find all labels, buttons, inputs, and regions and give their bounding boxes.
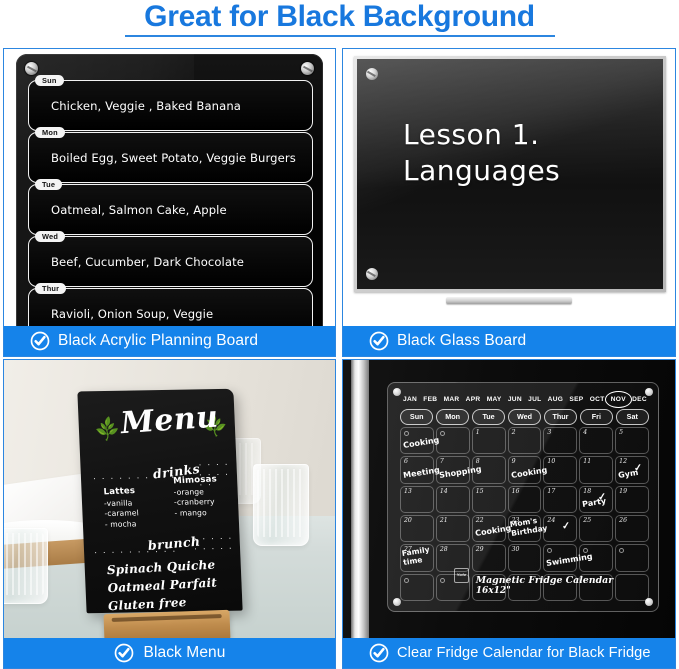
month-oct[interactable]: OCT: [589, 394, 606, 405]
punch-hole-icon: [404, 431, 409, 436]
calendar-event: Shopping: [438, 466, 467, 479]
calendar-cell[interactable]: 11: [579, 456, 613, 483]
month-jul[interactable]: JUL: [527, 394, 542, 405]
fridge-calendar-image: JANFEBMARAPRMAYJUNJULAUGSEPOCTNOVDEC Sun…: [343, 360, 675, 638]
glass-board-image: Lesson 1. Languages: [343, 49, 675, 326]
calendar-cell[interactable]: 24✓: [543, 515, 577, 542]
calendar-event: Cooking: [474, 525, 503, 538]
punch-hole-icon: [547, 548, 552, 553]
calendar-cell[interactable]: 20: [400, 515, 434, 542]
check-icon: ✓: [633, 462, 642, 474]
calendar-cell[interactable]: 16: [508, 486, 542, 513]
calendar-event: Family time: [401, 546, 431, 567]
check-icon: ✓: [561, 521, 570, 533]
calendar-event: Cooking: [403, 437, 432, 450]
month-sep[interactable]: SEP: [568, 394, 584, 405]
calendar-event: Mom's Birthday: [509, 517, 539, 538]
date-number: 24: [547, 517, 555, 524]
check-circle-icon: [30, 331, 50, 351]
month-nov[interactable]: NOV: [610, 394, 627, 405]
date-number: 15: [476, 488, 484, 495]
dot-leader: · · · · · · · · · ·: [94, 546, 177, 557]
calendar-cell[interactable]: 12Gym✓: [615, 456, 649, 483]
date-number: 30: [512, 546, 520, 553]
date-number: 14: [440, 488, 448, 495]
date-number: 16: [512, 488, 520, 495]
glass-line-2: Languages: [403, 153, 560, 189]
page-header: Great for Black Background: [0, 0, 679, 46]
calendar-cell[interactable]: 9Cooking: [508, 456, 542, 483]
month-dec[interactable]: DEC: [631, 394, 648, 405]
weekday-header-row: SunMonTueWedThurFriSat: [400, 409, 649, 425]
check-circle-icon: [369, 643, 389, 663]
date-number: 9: [512, 458, 516, 465]
check-circle-icon: [114, 643, 134, 663]
dot-leader: · · · · · · · · · ·: [93, 472, 176, 483]
calendar-cell[interactable]: Magnetic Fridge Calendar16x12"Note: [472, 574, 506, 601]
acrylic-calendar-plate: JANFEBMARAPRMAYJUNJULAUGSEPOCTNOVDEC Sun…: [387, 382, 659, 612]
date-number: 2: [512, 429, 516, 436]
punch-hole-icon: [440, 431, 445, 436]
planner-row: MonBoiled Egg, Sweet Potato, Veggie Burg…: [28, 132, 313, 183]
menu-board: 🌿 🌿 Menu drinks · · · · · · · · · · · · …: [77, 389, 242, 614]
weekday-mon: Mon: [436, 409, 469, 425]
date-number: 17: [547, 488, 555, 495]
calendar-cell[interactable]: 8: [472, 456, 506, 483]
calendar-cell[interactable]: [615, 574, 649, 601]
date-number: 21: [440, 517, 448, 524]
planner-board: SunChicken, Veggie , Baked BananaMonBoil…: [16, 54, 323, 326]
calendar-grid: Cooking123456Meeting7Shopping89Cooking10…: [400, 427, 649, 601]
planner-rows: SunChicken, Veggie , Baked BananaMonBoil…: [28, 80, 313, 326]
caption-label: Black Acrylic Planning Board: [58, 332, 258, 350]
caption-label: Clear Fridge Calendar for Black Fridge: [397, 645, 651, 661]
date-number: 11: [583, 458, 591, 465]
caption-bar-glass-board: Black Glass Board: [343, 326, 675, 356]
calendar-cell[interactable]: 18Party✓: [579, 486, 613, 513]
date-number: 4: [583, 429, 587, 436]
date-number: 18: [583, 488, 591, 495]
calendar-cell[interactable]: 2: [508, 427, 542, 454]
date-number: 13: [404, 488, 412, 495]
glass-board-surface: Lesson 1. Languages: [357, 59, 663, 289]
month-jun[interactable]: JUN: [507, 394, 523, 405]
brunch-items: Spinach Quiche Oatmeal Parfait Gluten fr…: [106, 557, 242, 614]
calendar-cell[interactable]: 15: [472, 486, 506, 513]
day-tag: Tue: [35, 179, 62, 190]
title-underline: [125, 35, 555, 37]
date-number: 1: [476, 429, 480, 436]
menu-item: -cranberry: [174, 497, 218, 508]
stand-slot: [112, 614, 222, 622]
calendar-cell[interactable]: 22Cooking: [472, 515, 506, 542]
menu-column-title: Lattes: [103, 486, 138, 497]
weekday-wed: Wed: [508, 409, 541, 425]
calendar-cell[interactable]: 7Shopping: [436, 456, 470, 483]
calendar-cell[interactable]: 21: [436, 515, 470, 542]
date-number: 20: [404, 517, 412, 524]
day-tag: Sun: [35, 75, 64, 86]
meal-text: Beef, Cucumber, Dark Chocolate: [51, 255, 244, 269]
menu-item: - mocha: [105, 519, 140, 530]
calendar-event: Meeting: [403, 466, 432, 479]
date-number: 22: [476, 517, 484, 524]
calendar-cell[interactable]: 5: [615, 427, 649, 454]
punch-hole-icon: [583, 548, 588, 553]
weekday-sat: Sat: [616, 409, 649, 425]
calendar-cell[interactable]: 13: [400, 486, 434, 513]
panel-acrylic-planner: SunChicken, Veggie , Baked BananaMonBoil…: [0, 46, 339, 357]
date-number: 8: [476, 458, 480, 465]
day-tag: Mon: [35, 127, 65, 138]
calendar-cell[interactable]: 26: [615, 515, 649, 542]
menu-item: -vanilla: [104, 498, 139, 509]
caption-bar-acrylic-planner: Black Acrylic Planning Board: [4, 326, 335, 356]
punch-hole-icon: [619, 548, 624, 553]
meal-text: Boiled Egg, Sweet Potato, Veggie Burgers: [51, 151, 296, 165]
weekday-tue: Tue: [472, 409, 505, 425]
meal-text: Oatmeal, Salmon Cake, Apple: [51, 203, 227, 217]
weekday-fri: Fri: [580, 409, 613, 425]
drinking-glass: [253, 464, 309, 546]
laurel-icon: 🌿: [94, 416, 121, 442]
check-circle-icon: [369, 331, 389, 351]
calendar-cell[interactable]: 1: [472, 427, 506, 454]
menu-column-mimosas: Mimosas -orange -cranberry - mango: [173, 475, 219, 519]
drinking-glass: [4, 528, 48, 604]
calendar-cell[interactable]: [436, 427, 470, 454]
calendar-cell[interactable]: 14: [436, 486, 470, 513]
menu-item: -caramel: [104, 509, 139, 520]
date-number: 6: [404, 458, 408, 465]
month-may[interactable]: MAY: [486, 394, 503, 405]
fridge-handle: [351, 360, 369, 638]
menu-item: - mango: [174, 508, 218, 519]
panel-grid: SunChicken, Veggie , Baked BananaMonBoil…: [0, 46, 679, 669]
calendar-cell[interactable]: 23Mom's Birthday: [508, 515, 542, 542]
calendar-cell[interactable]: 25: [579, 515, 613, 542]
punch-hole-icon: [440, 578, 445, 583]
weekday-sun: Sun: [400, 409, 433, 425]
planner-row: WedBeef, Cucumber, Dark Chocolate: [28, 236, 313, 287]
marker-tray: [446, 297, 572, 304]
calendar-cell[interactable]: 3: [543, 427, 577, 454]
date-number: 29: [476, 546, 484, 553]
planner-row: TueOatmeal, Salmon Cake, Apple: [28, 184, 313, 235]
date-number: 10: [547, 458, 555, 465]
menu-column-title: Mimosas: [173, 474, 217, 486]
panel-fridge-calendar: JANFEBMARAPRMAYJUNJULAUGSEPOCTNOVDEC Sun…: [339, 357, 679, 669]
day-tag: Thur: [35, 283, 66, 294]
black-menu-image: 🌿 🌿 Menu drinks · · · · · · · · · · · · …: [4, 360, 335, 638]
meal-text: Ravioli, Onion Soup, Veggie: [51, 307, 213, 321]
date-number: 26: [619, 517, 627, 524]
calendar-cell[interactable]: 4: [579, 427, 613, 454]
date-number: 5: [619, 429, 623, 436]
calendar-cell[interactable]: Cooking: [400, 427, 434, 454]
month-feb[interactable]: FEB: [422, 394, 438, 405]
date-number: 12: [619, 458, 627, 465]
menu-title: Menu: [119, 402, 219, 439]
meal-text: Chicken, Veggie , Baked Banana: [51, 99, 241, 113]
product-feature-collage: Great for Black Background SunChicken, V…: [0, 0, 679, 669]
date-number: 28: [440, 546, 448, 553]
caption-label: Black Menu: [144, 644, 226, 662]
screw-icon: [25, 62, 38, 75]
calendar-cell[interactable]: 10: [543, 456, 577, 483]
note-chip: Note: [454, 568, 470, 583]
caption-bar-fridge-calendar: Clear Fridge Calendar for Black Fridge: [343, 638, 675, 668]
punch-hole-icon: [404, 578, 409, 583]
calendar-cell[interactable]: [400, 574, 434, 601]
calendar-event: Cooking: [510, 466, 539, 479]
screw-icon: [393, 388, 401, 396]
calendar-cell[interactable]: [615, 544, 649, 571]
calendar-cell[interactable]: 29: [472, 544, 506, 571]
month-mar[interactable]: MAR: [443, 394, 461, 405]
month-aug[interactable]: AUG: [547, 394, 565, 405]
calendar-cell[interactable]: 30: [508, 544, 542, 571]
glass-board-frame: Lesson 1. Languages: [354, 56, 666, 292]
date-number: 19: [619, 488, 627, 495]
acrylic-planner-image: SunChicken, Veggie , Baked BananaMonBoil…: [4, 49, 335, 326]
page-title: Great for Black Background: [144, 0, 535, 34]
weekday-thur: Thur: [544, 409, 577, 425]
screw-icon: [366, 68, 378, 80]
panel-glass-board: Lesson 1. Languages Black Glass Board: [339, 46, 679, 357]
check-icon: ✓: [597, 492, 606, 504]
planner-row: ThurRavioli, Onion Soup, Veggie: [28, 288, 313, 326]
calendar-cell[interactable]: 17: [543, 486, 577, 513]
month-selector-row[interactable]: JANFEBMARAPRMAYJUNJULAUGSEPOCTNOVDEC: [402, 394, 648, 405]
screw-icon: [366, 268, 378, 280]
date-number: 7: [440, 458, 444, 465]
caption-bar-black-menu: Black Menu: [4, 638, 335, 668]
screw-icon: [301, 62, 314, 75]
calendar-cell[interactable]: [579, 544, 613, 571]
day-tag: Wed: [35, 231, 65, 242]
menu-item: -orange: [173, 487, 217, 498]
wooden-stand: [104, 610, 231, 638]
month-jan[interactable]: JAN: [402, 394, 418, 405]
month-apr[interactable]: APR: [465, 394, 482, 405]
calendar-cell[interactable]: Swimming: [543, 544, 577, 571]
glass-line-1: Lesson 1.: [403, 117, 560, 153]
menu-column-lattes: Lattes -vanilla -caramel - mocha: [103, 486, 139, 530]
glass-board-writing: Lesson 1. Languages: [403, 117, 560, 189]
caption-label: Black Glass Board: [397, 332, 526, 350]
date-number: 25: [583, 517, 591, 524]
date-number: 3: [547, 429, 551, 436]
product-note: Magnetic Fridge Calendar16x12"Note: [476, 575, 613, 597]
panel-black-menu: 🌿 🌿 Menu drinks · · · · · · · · · · · · …: [0, 357, 339, 669]
dot-leader: · · · · · · · · · ·: [193, 533, 240, 554]
calendar-cell[interactable]: 6Meeting: [400, 456, 434, 483]
calendar-event: Swimming: [546, 554, 575, 567]
planner-row: SunChicken, Veggie , Baked Banana: [28, 80, 313, 131]
product-size: 16x12": [476, 586, 613, 597]
calendar-cell[interactable]: 27Family time: [400, 544, 434, 571]
calendar-cell[interactable]: 19: [615, 486, 649, 513]
